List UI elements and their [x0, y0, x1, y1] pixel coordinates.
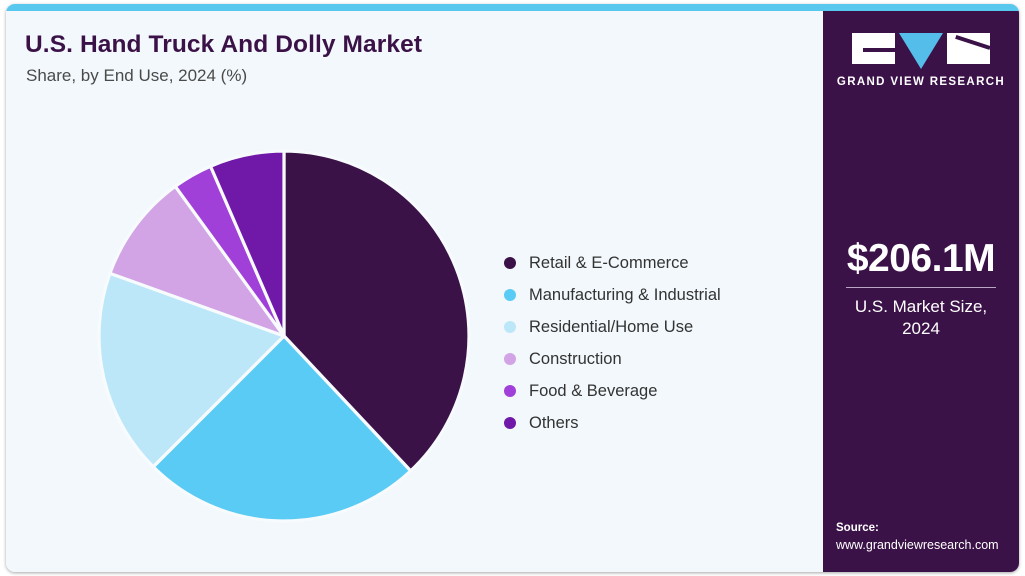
market-size-value: $206.1M — [823, 239, 1019, 280]
market-size-caption: U.S. Market Size, 2024 — [823, 296, 1019, 341]
page-title: U.S. Hand Truck And Dolly Market — [25, 31, 422, 59]
legend-label: Others — [529, 414, 579, 433]
legend-swatch-icon — [504, 353, 516, 365]
brand-panel: GRAND VIEW RESEARCH $206.1M U.S. Market … — [823, 11, 1019, 572]
logo-letter-v-triangle-icon — [899, 33, 943, 69]
logo-letter-r-icon — [947, 33, 990, 64]
legend-swatch-icon — [504, 417, 516, 429]
legend-swatch-icon — [504, 289, 516, 301]
logo-letter-g-icon — [852, 33, 895, 64]
brand-logo: GRAND VIEW RESEARCH — [823, 33, 1019, 88]
legend-item-food-beverage[interactable]: Food & Beverage — [504, 375, 804, 407]
page-subtitle: Share, by End Use, 2024 (%) — [26, 66, 247, 86]
chart-legend: Retail & E-Commerce Manufacturing & Indu… — [504, 247, 804, 439]
legend-label: Retail & E-Commerce — [529, 254, 689, 273]
legend-label: Food & Beverage — [529, 382, 657, 401]
legend-swatch-icon — [504, 257, 516, 269]
legend-item-others[interactable]: Others — [504, 407, 804, 439]
legend-item-manufacturing-industrial[interactable]: Manufacturing & Industrial — [504, 279, 804, 311]
legend-item-construction[interactable]: Construction — [504, 343, 804, 375]
source-label: Source: — [836, 520, 1011, 537]
market-size-stat: $206.1M U.S. Market Size, 2024 — [823, 239, 1019, 341]
chart-screenshot: U.S. Hand Truck And Dolly Market Share, … — [0, 0, 1025, 576]
legend-swatch-icon — [504, 385, 516, 397]
top-accent-bar — [6, 4, 1019, 11]
infographic-card: U.S. Hand Truck And Dolly Market Share, … — [6, 4, 1019, 572]
logo-wordmark: GRAND VIEW RESEARCH — [837, 76, 1005, 88]
source-block: Source: www.grandviewresearch.com — [836, 520, 1011, 554]
source-url[interactable]: www.grandviewresearch.com — [836, 537, 1011, 554]
logo-marks — [852, 33, 990, 69]
legend-label: Manufacturing & Industrial — [529, 286, 721, 305]
pie-chart-svg — [93, 138, 475, 534]
legend-item-retail-e-commerce[interactable]: Retail & E-Commerce — [504, 247, 804, 279]
chart-pane: U.S. Hand Truck And Dolly Market Share, … — [6, 11, 823, 572]
legend-item-residential-home-use[interactable]: Residential/Home Use — [504, 311, 804, 343]
legend-label: Residential/Home Use — [529, 318, 693, 337]
legend-label: Construction — [529, 350, 622, 369]
legend-swatch-icon — [504, 321, 516, 333]
stat-divider — [846, 287, 996, 288]
pie-chart — [93, 138, 475, 534]
pie-slice-group — [99, 151, 469, 521]
